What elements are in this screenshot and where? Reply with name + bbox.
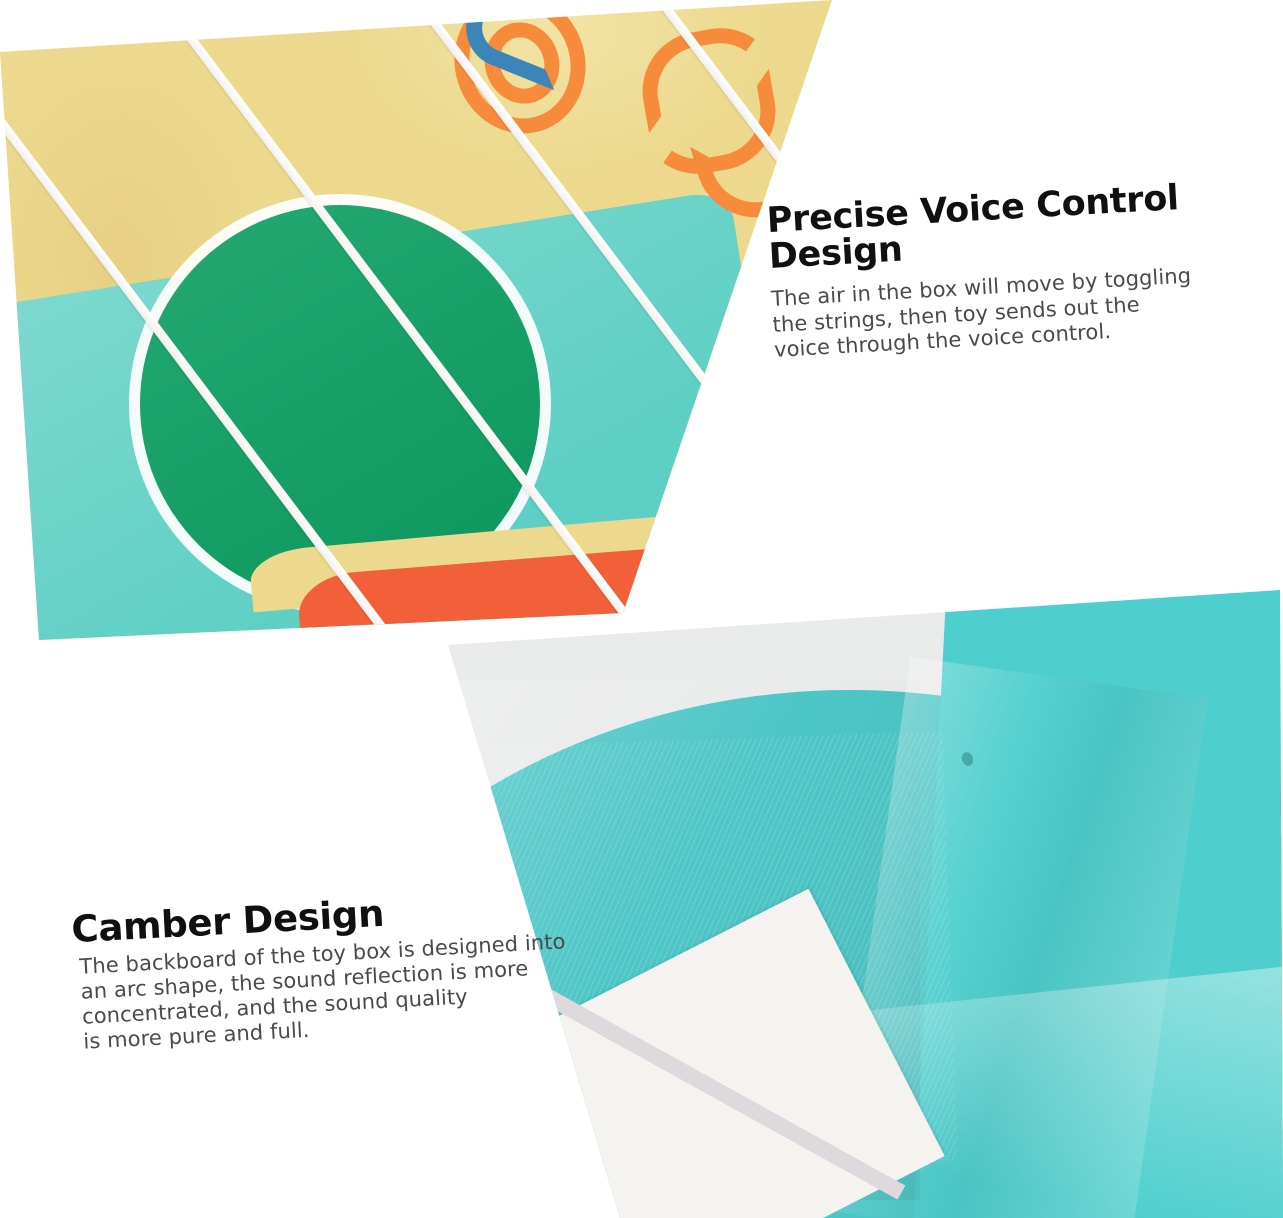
feature-camber-body: The backboard of the toy box is designed… [79, 929, 578, 1055]
feature-voice-control-heading: Precise Voice Control Design [766, 180, 1199, 275]
infographic-canvas: Precise Voice Control Design The air in … [0, 0, 1283, 1218]
ukulele-face-closeup-photo [0, 0, 840, 650]
feature-camber-text: Camber Design The backboard of the toy b… [71, 885, 578, 1055]
feature-voice-control-text: Precise Voice Control Design The air in … [766, 180, 1204, 363]
feature-voice-control-body: The air in the box will move by toggling… [771, 263, 1205, 362]
